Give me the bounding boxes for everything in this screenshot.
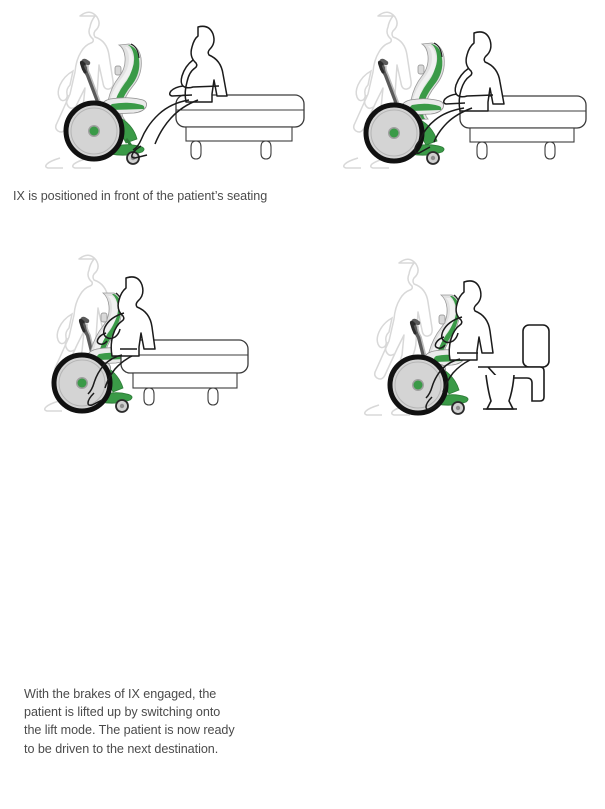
figure-panel-2 [300, 0, 605, 180]
toilet-tank [523, 325, 549, 367]
panel-3-caption: With the brakes of IX engaged, the patie… [24, 685, 299, 758]
ix-device [366, 43, 444, 164]
figure-panel-4 [300, 245, 605, 430]
panel-patient-mounting-ix: The patient gets onto IX with the assist… [300, 0, 605, 180]
panel-ix-at-toilet: The IX is placed near the toilet seat. W… [300, 245, 605, 430]
bed [176, 95, 304, 159]
ix-main-wheel [366, 105, 422, 161]
figure-panel-1 [0, 0, 310, 180]
panel-ix-in-front-of-bed: IX is positioned in front of the patient… [0, 0, 310, 180]
bed [121, 340, 248, 405]
figure-panel-3 [0, 245, 310, 430]
ix-main-wheel [54, 355, 110, 411]
ix-device [66, 44, 147, 164]
panel-patient-lifted-on-ix: With the brakes of IX engaged, the patie… [0, 245, 310, 430]
ix-main-wheel [66, 103, 122, 159]
toilet-pedestal [486, 375, 514, 409]
panel-1-caption: IX is positioned in front of the patient… [13, 187, 303, 205]
illustration-sheet: IX is positioned in front of the patient… [0, 0, 605, 575]
